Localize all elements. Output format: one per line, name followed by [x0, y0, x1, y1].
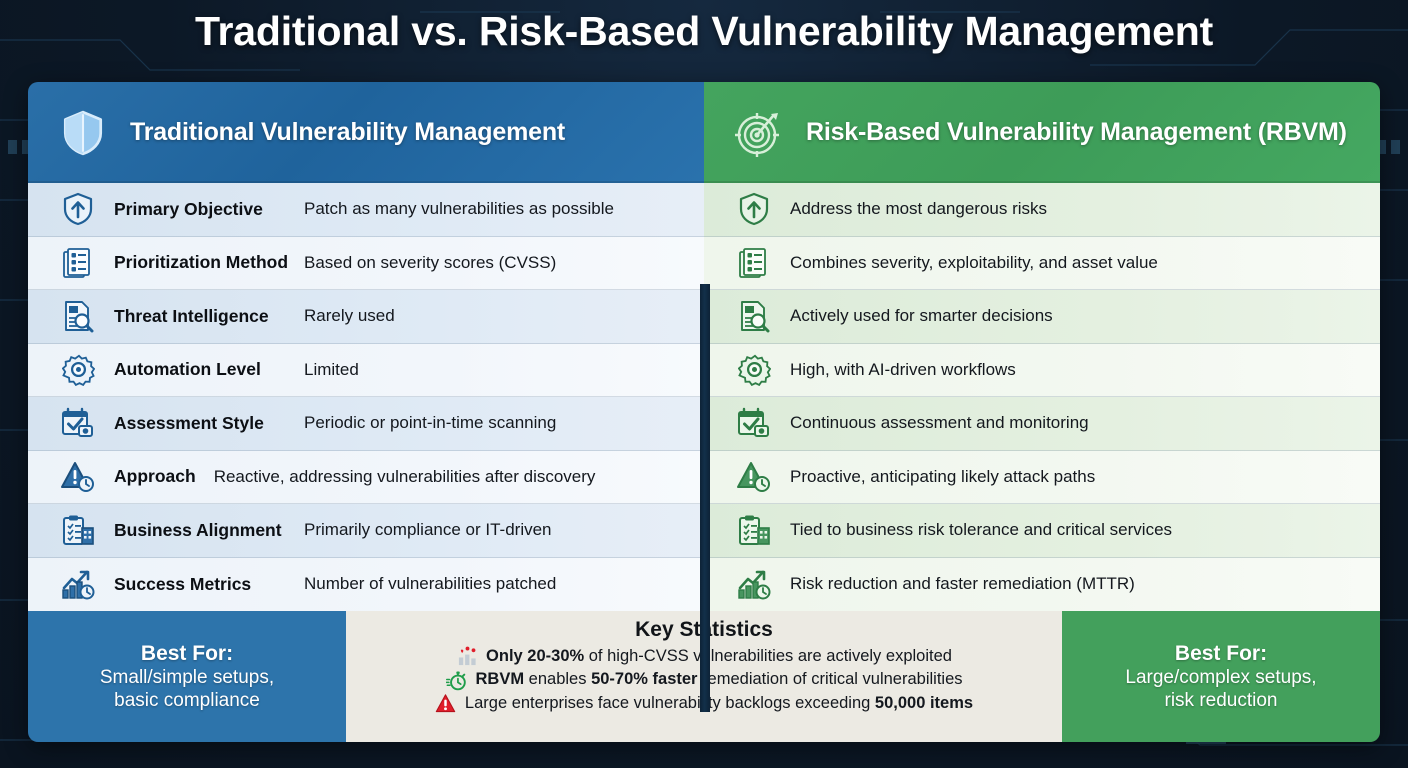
table-row: Actively used for smarter decisions: [704, 290, 1380, 344]
table-row: Assessment Style Periodic or point-in-ti…: [28, 397, 704, 451]
comparison-table: Primary Objective Patch as many vulnerab…: [28, 183, 1380, 611]
row-value-traditional: Primarily compliance or IT-driven: [304, 520, 552, 540]
table-row: Approach Reactive, addressing vulnerabil…: [28, 451, 704, 505]
row-value-rbvm: Combines severity, exploitability, and a…: [790, 253, 1158, 273]
row-value-rbvm: Actively used for smarter decisions: [790, 306, 1053, 326]
row-label: Approach: [114, 466, 196, 487]
stat-bold-mid: 50-70% faster: [591, 670, 697, 688]
gear-icon: [56, 350, 100, 390]
best-for-traditional-line1: Small/simple setups,: [100, 666, 274, 689]
stat-bold: RBVM: [476, 670, 525, 688]
shield-arrow-up-icon: [732, 189, 776, 229]
row-value-traditional: Patch as many vulnerabilities as possibl…: [304, 199, 614, 219]
table-row: Success Metrics Number of vulnerabilitie…: [28, 558, 704, 612]
row-label: Threat Intelligence: [114, 306, 304, 327]
table-row: Automation Level Limited: [28, 344, 704, 398]
shield-icon: [56, 106, 110, 160]
table-row: Threat Intelligence Rarely used: [28, 290, 704, 344]
column-traditional: Primary Objective Patch as many vulnerab…: [28, 183, 704, 611]
document-search-icon: [732, 296, 776, 336]
stat-text: Only 20-30% of high-CVSS vulnerabilities…: [486, 645, 952, 668]
stat-text: Large enterprises face vulnerability bac…: [465, 692, 973, 715]
best-for-traditional: Best For: Small/simple setups, basic com…: [28, 611, 346, 742]
column-headers: Traditional Vulnerability Management Ris…: [28, 82, 1380, 183]
table-row: Address the most dangerous risks: [704, 183, 1380, 237]
row-label: Prioritization Method: [114, 252, 304, 273]
row-value-rbvm: Proactive, anticipating likely attack pa…: [790, 467, 1095, 487]
page-title: Traditional vs. Risk-Based Vulnerability…: [0, 8, 1408, 55]
table-row: Combines severity, exploitability, and a…: [704, 237, 1380, 291]
header-rbvm: Risk-Based Vulnerability Management (RBV…: [704, 82, 1380, 183]
stopwatch-icon: [446, 669, 468, 691]
column-divider: [700, 284, 710, 712]
comparison-board: Traditional Vulnerability Management Ris…: [28, 82, 1380, 742]
best-for-rbvm-line2: risk reduction: [1165, 689, 1278, 712]
table-row: Business Alignment Primarily compliance …: [28, 504, 704, 558]
table-row: Continuous assessment and monitoring: [704, 397, 1380, 451]
table-row: High, with AI-driven workflows: [704, 344, 1380, 398]
row-value-traditional: Rarely used: [304, 306, 395, 326]
row-value-rbvm: Tied to business risk tolerance and crit…: [790, 520, 1172, 540]
table-row: Risk reduction and faster remediation (M…: [704, 558, 1380, 612]
stat-bold: Only 20-30%: [486, 647, 584, 665]
row-label: Primary Objective: [114, 199, 304, 220]
bar-chart-hearts-icon: [456, 646, 478, 668]
warning-clock-icon: [732, 457, 776, 497]
document-search-icon: [56, 296, 100, 336]
shield-arrow-up-icon: [56, 189, 100, 229]
stat-bold-tail: 50,000 items: [875, 694, 973, 712]
table-row: Prioritization Method Based on severity …: [28, 237, 704, 291]
best-for-traditional-line2: basic compliance: [114, 689, 260, 712]
stat-rest2: remediation of critical vulnerabilities: [697, 670, 962, 688]
row-value-rbvm: Risk reduction and faster remediation (M…: [790, 574, 1135, 594]
header-traditional-label: Traditional Vulnerability Management: [130, 118, 565, 147]
calendar-check-icon: [56, 403, 100, 443]
row-value-traditional: Reactive, addressing vulnerabilities aft…: [214, 467, 596, 487]
table-row: Proactive, anticipating likely attack pa…: [704, 451, 1380, 505]
header-rbvm-label: Risk-Based Vulnerability Management (RBV…: [806, 118, 1347, 147]
document-list-icon: [732, 243, 776, 283]
stat-rest: enables: [524, 670, 591, 688]
clipboard-building-icon: [56, 510, 100, 550]
row-value-traditional: Based on severity scores (CVSS): [304, 253, 556, 273]
document-list-icon: [56, 243, 100, 283]
row-label: Assessment Style: [114, 413, 304, 434]
row-value-traditional: Limited: [304, 360, 359, 380]
table-row: Primary Objective Patch as many vulnerab…: [28, 183, 704, 237]
warning-clock-icon: [56, 457, 100, 497]
row-label: Success Metrics: [114, 574, 304, 595]
best-for-rbvm: Best For: Large/complex setups, risk red…: [1062, 611, 1380, 742]
target-icon: [732, 106, 786, 160]
gear-icon: [732, 350, 776, 390]
row-value-rbvm: Continuous assessment and monitoring: [790, 413, 1089, 433]
row-value-rbvm: Address the most dangerous risks: [790, 199, 1047, 219]
column-rbvm: Address the most dangerous risks Combine…: [704, 183, 1380, 611]
warning-triangle-icon: [435, 693, 457, 715]
row-value-rbvm: High, with AI-driven workflows: [790, 360, 1016, 380]
table-row: Tied to business risk tolerance and crit…: [704, 504, 1380, 558]
chart-growth-icon: [56, 564, 100, 604]
stat-rest: Large enterprises face vulnerability bac…: [465, 694, 875, 712]
header-traditional: Traditional Vulnerability Management: [28, 82, 704, 183]
row-value-traditional: Number of vulnerabilities patched: [304, 574, 556, 594]
stat-text: RBVM enables 50-70% faster remediation o…: [476, 668, 963, 691]
row-label: Business Alignment: [114, 520, 304, 541]
chart-growth-icon: [732, 564, 776, 604]
best-for-traditional-title: Best For:: [141, 641, 233, 667]
clipboard-building-icon: [732, 510, 776, 550]
calendar-check-icon: [732, 403, 776, 443]
best-for-rbvm-line1: Large/complex setups,: [1125, 666, 1316, 689]
stat-rest: of high-CVSS vulnerabilities are activel…: [584, 647, 952, 665]
row-value-traditional: Periodic or point-in-time scanning: [304, 413, 556, 433]
row-label: Automation Level: [114, 359, 304, 380]
best-for-rbvm-title: Best For:: [1175, 641, 1267, 667]
